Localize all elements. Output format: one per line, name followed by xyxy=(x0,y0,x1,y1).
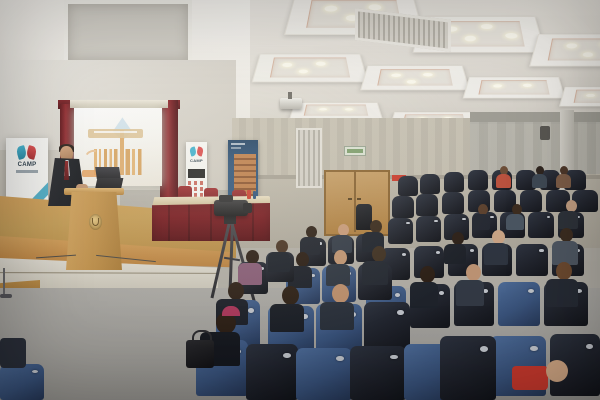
audience-red-garment xyxy=(512,366,548,390)
audience-hat xyxy=(222,306,240,316)
audience-person-head xyxy=(546,360,568,382)
auditorium-photo: CAMP CAMP xyxy=(0,0,600,400)
seated-audience xyxy=(0,0,600,400)
audience-person xyxy=(0,338,26,368)
floor-bag xyxy=(186,340,214,368)
